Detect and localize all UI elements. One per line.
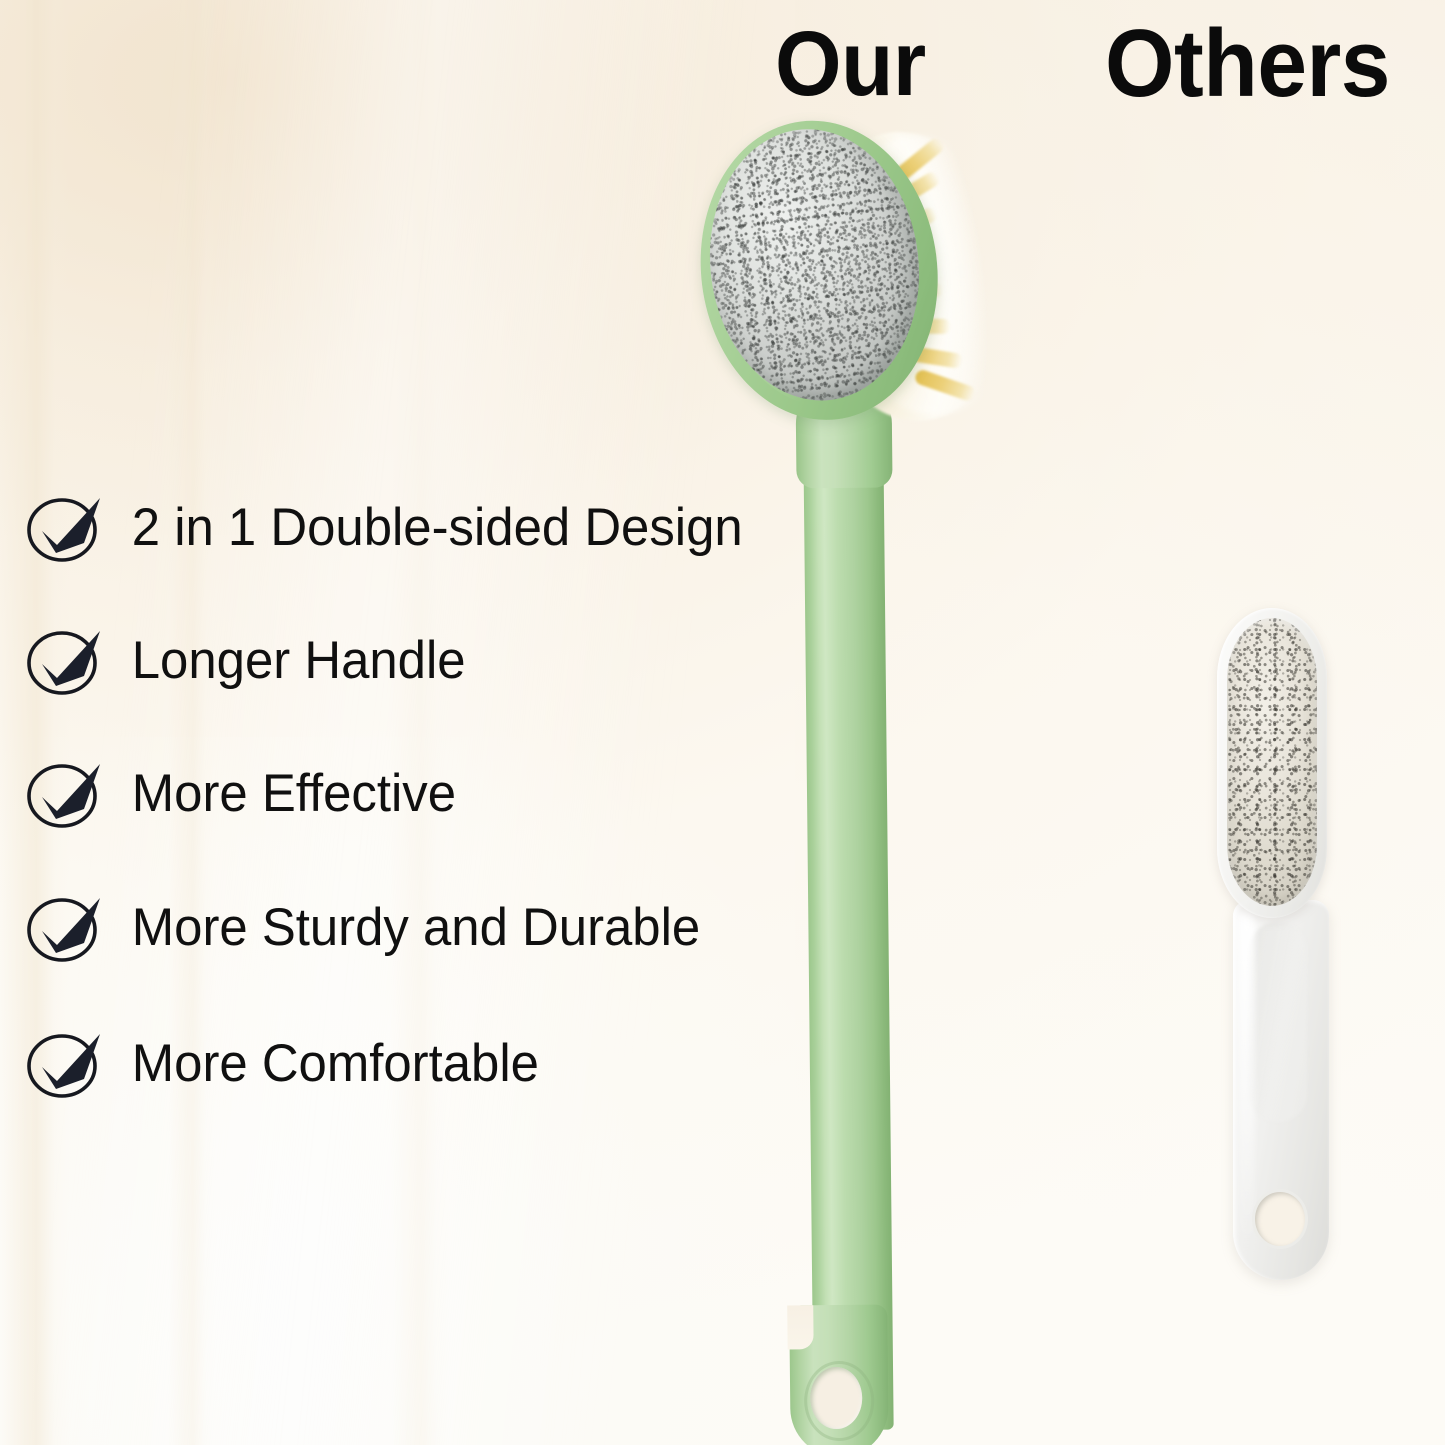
heading-others: Others — [1105, 16, 1390, 112]
foot-file-pumice-grain — [1227, 618, 1317, 906]
brush-handle-shaft — [803, 410, 894, 1431]
feature-item: More Comfortable — [22, 1021, 556, 1105]
foot-file-handle-groove — [1249, 922, 1307, 1122]
feature-label: Longer Handle — [126, 634, 466, 687]
handle-foot-notch — [787, 1305, 813, 1349]
feature-label: More Comfortable — [126, 1037, 539, 1090]
check-circle-icon — [22, 618, 106, 702]
feature-label: More Effective — [126, 767, 456, 820]
foot-file-handle-shine — [1239, 912, 1255, 1252]
brush-handle-hang-hole — [789, 1304, 889, 1445]
check-circle-icon — [22, 751, 106, 835]
feature-label: 2 in 1 Double-sided Design — [126, 501, 743, 554]
feature-item: 2 in 1 Double-sided Design — [22, 485, 768, 569]
product-image-ours — [690, 110, 1020, 1445]
check-circle-icon — [22, 485, 106, 569]
foot-file-hang-hole — [1255, 1192, 1305, 1246]
check-circle-icon — [22, 1021, 106, 1105]
hang-hole — [810, 1367, 863, 1430]
product-image-others — [1195, 600, 1405, 1290]
feature-label: More Sturdy and Durable — [126, 901, 700, 954]
check-circle-icon — [22, 885, 106, 969]
brush-head — [671, 91, 1039, 459]
feature-item: More Effective — [22, 751, 470, 835]
background-band — [0, 0, 70, 1445]
feature-item: More Sturdy and Durable — [22, 885, 724, 969]
heading-our: Our — [775, 18, 926, 110]
comparison-infographic: Our Others 2 in 1 Double-sided Design Lo… — [0, 0, 1445, 1445]
feature-item: Longer Handle — [22, 618, 480, 702]
